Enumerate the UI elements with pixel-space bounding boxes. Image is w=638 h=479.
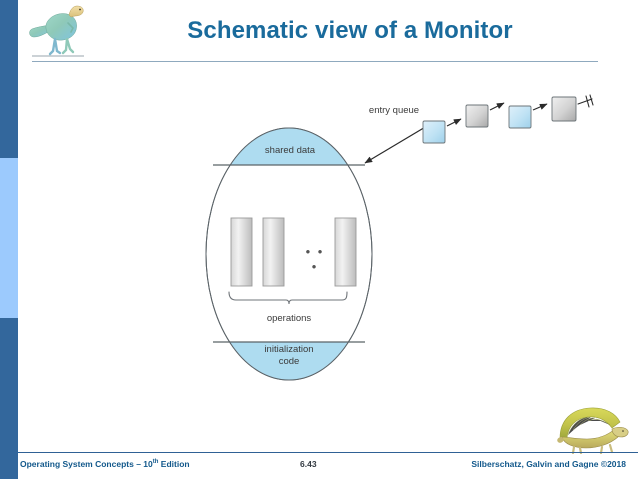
operation-bar [263,218,284,286]
queue-process-box [509,106,531,128]
footer-copyright: Silberschatz, Galvin and Gagne ©2018 [471,459,626,469]
initialization-code-line-2: code [279,356,300,367]
footer-edition-tail: Edition [158,459,189,469]
monitor-schematic-figure [0,0,638,479]
queue-process-box [423,121,445,143]
queue-arrow [490,103,504,110]
entry-queue-label: entry queue [355,105,433,117]
operation-bar [335,218,356,286]
operation-bar [231,218,252,286]
footer-divider [18,452,638,453]
footer-edition-main: Operating System Concepts – 10 [20,459,153,469]
queue-arrow [447,119,461,126]
initialization-code-label: initialization code [245,344,333,368]
slide-canvas: Schematic view of a Monitor [0,0,638,479]
initialization-code-line-1: initialization [264,344,313,355]
shared-data-region [200,120,380,165]
operations-ellipsis: • • • [300,244,330,274]
shared-data-label: shared data [240,145,340,157]
footer-edition-text: Operating System Concepts – 10th Edition [20,459,190,469]
queue-continuation-mark [578,95,593,107]
queue-process-box [466,105,488,127]
dimetrodon-icon [554,404,632,454]
queue-arrow-to-monitor [365,126,427,163]
queue-arrow [533,104,547,110]
slide-number: 6.43 [300,459,317,469]
operations-label: operations [239,313,339,325]
queue-process-box [552,97,576,121]
